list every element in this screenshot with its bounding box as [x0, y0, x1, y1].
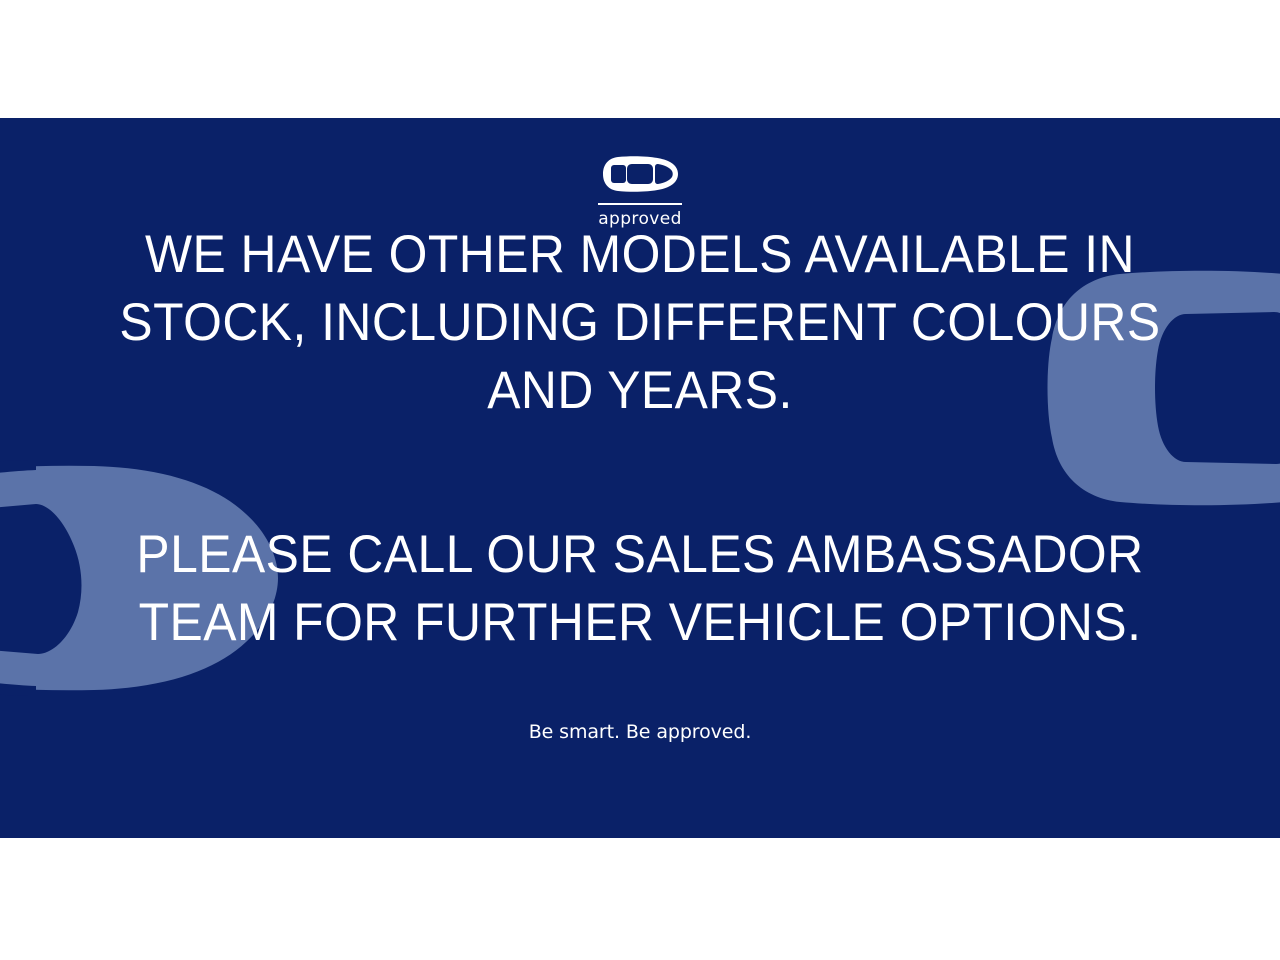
- headline-primary: We have other models available in stock,…: [118, 221, 1161, 425]
- promo-banner: approved We have other models available …: [0, 118, 1280, 838]
- headline-secondary: Please call our sales ambassador team fo…: [118, 521, 1161, 657]
- banner-stage: approved We have other models available …: [0, 0, 1280, 960]
- banner-content: We have other models available in stock,…: [0, 118, 1280, 838]
- tagline: Be smart. Be approved.: [529, 721, 752, 743]
